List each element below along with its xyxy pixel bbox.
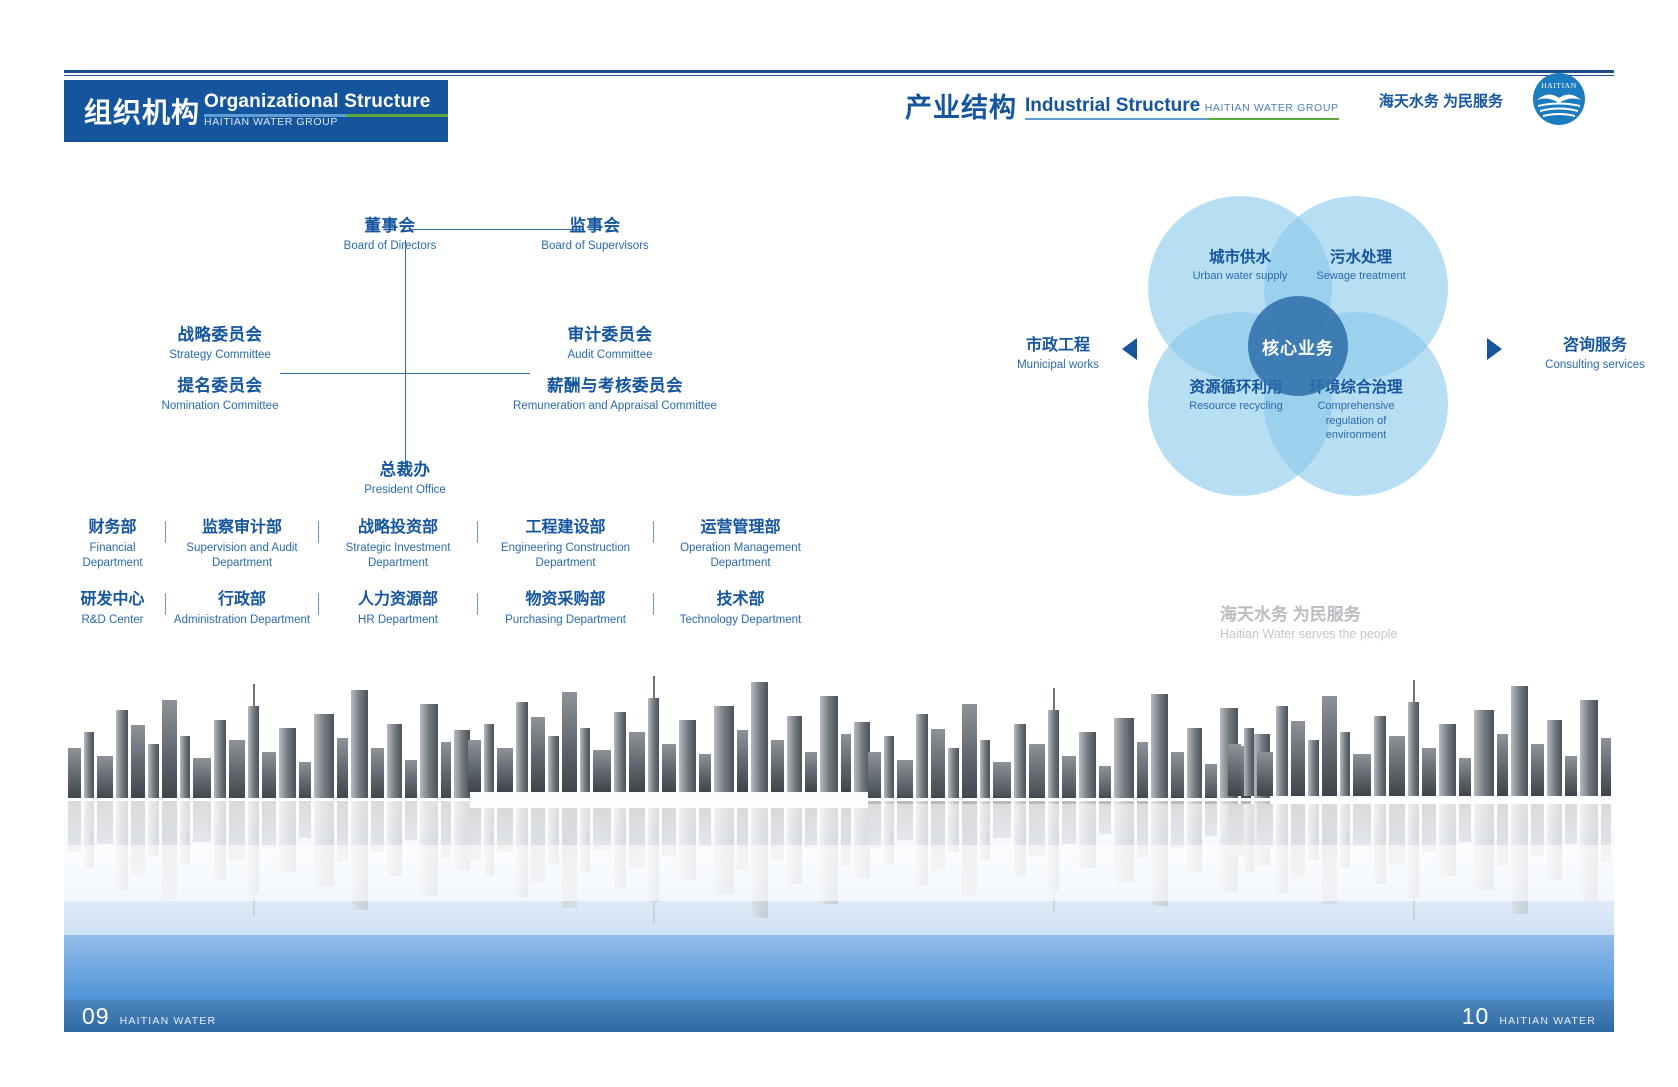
connector-left-committees: [280, 373, 405, 374]
department-strategic-investment: 战略投资部 Strategic Investment Department: [319, 518, 477, 571]
underline-blue-segment: [1025, 118, 1207, 121]
venn-core-business: 核心业务: [1248, 296, 1348, 396]
page-number-right: 10 HAITIAN WATER: [1462, 1004, 1596, 1028]
connector-right-committees: [405, 373, 530, 374]
org-node-audit-committee: 审计委员会 Audit Committee: [520, 325, 700, 363]
org-node-board-of-directors: 董事会 Board of Directors: [335, 216, 445, 254]
org-node-remuneration-committee: 薪酬与考核委员会 Remuneration and Appraisal Comm…: [490, 376, 740, 414]
underline-green-segment: [1207, 118, 1339, 121]
department-rd-center: 研发中心 R&D Center: [60, 590, 165, 628]
brand-tagline: 海天水务 为民服务: [1379, 90, 1503, 111]
svg-text:HAITIAN: HAITIAN: [1541, 81, 1576, 90]
page-number-left: 09 HAITIAN WATER: [82, 1004, 216, 1028]
page-number-value: 10: [1462, 1004, 1490, 1028]
section-subtitle-en: HAITIAN WATER GROUP: [1205, 102, 1339, 114]
watermark-tagline: 海天水务 为民服务 Haitian Water serves the peopl…: [1220, 603, 1397, 643]
skyline-buildings: [64, 670, 1614, 1000]
city-skyline-illustration: [64, 670, 1614, 1000]
section-title-industrial-structure: 产业结构 Industrial Structure HAITIAN WATER …: [905, 86, 1339, 125]
triangle-left-icon: [1122, 338, 1137, 360]
section-title-en: Industrial Structure: [1025, 95, 1200, 116]
footer-bar: 09 HAITIAN WATER 10 HAITIAN WATER: [64, 1000, 1614, 1032]
org-node-strategy-committee: 战略委员会 Strategy Committee: [130, 325, 310, 363]
page-label: HAITIAN WATER: [1499, 1015, 1596, 1027]
connector-board-supervisors: [409, 229, 582, 230]
department-engineering-construction: 工程建设部 Engineering Construction Departmen…: [478, 518, 653, 571]
industry-label-consulting-services: 咨询服务 Consulting services: [1485, 335, 1678, 373]
section-title-en-wrap: Industrial Structure HAITIAN WATER GROUP: [1025, 96, 1339, 116]
industrial-structure-venn: 城市供水 Urban water supply 污水处理 Sewage trea…: [1148, 196, 1448, 496]
page-number-value: 09: [82, 1004, 110, 1028]
department-row-2: 研发中心 R&D Center 行政部 Administration Depar…: [60, 590, 827, 628]
department-technology: 技术部 Technology Department: [654, 590, 827, 628]
department-purchasing: 物资采购部 Purchasing Department: [478, 590, 653, 628]
org-node-nomination-committee: 提名委员会 Nomination Committee: [130, 376, 310, 414]
department-hr: 人力资源部 HR Department: [319, 590, 477, 628]
venn-label-sewage-treatment: 污水处理 Sewage treatment: [1285, 248, 1437, 284]
department-row-1: 财务部 Financial Department 监察审计部 Supervisi…: [60, 518, 827, 571]
haitian-logo-icon: HAITIAN: [1528, 72, 1590, 126]
department-administration: 行政部 Administration Department: [166, 590, 318, 628]
org-node-board-of-supervisors: 监事会 Board of Supervisors: [530, 216, 660, 254]
page-label: HAITIAN WATER: [120, 1015, 217, 1027]
org-node-president-office: 总裁办 President Office: [340, 460, 470, 498]
section-title-cn: 产业结构: [905, 86, 1017, 125]
connector-spine-vertical: [405, 240, 406, 469]
industry-label-municipal-works: 市政工程 Municipal works: [1008, 335, 1108, 373]
organizational-chart: 董事会 Board of Directors 监事会 Board of Supe…: [0, 0, 850, 680]
department-supervision-audit: 监察审计部 Supervision and Audit Department: [166, 518, 318, 571]
department-operation-management: 运营管理部 Operation Management Department: [654, 518, 827, 571]
title-underline-accent: [1025, 118, 1339, 121]
brochure-page: 组织机构 Organizational Structure HAITIAN WA…: [0, 0, 1678, 1087]
department-financial: 财务部 Financial Department: [60, 518, 165, 571]
